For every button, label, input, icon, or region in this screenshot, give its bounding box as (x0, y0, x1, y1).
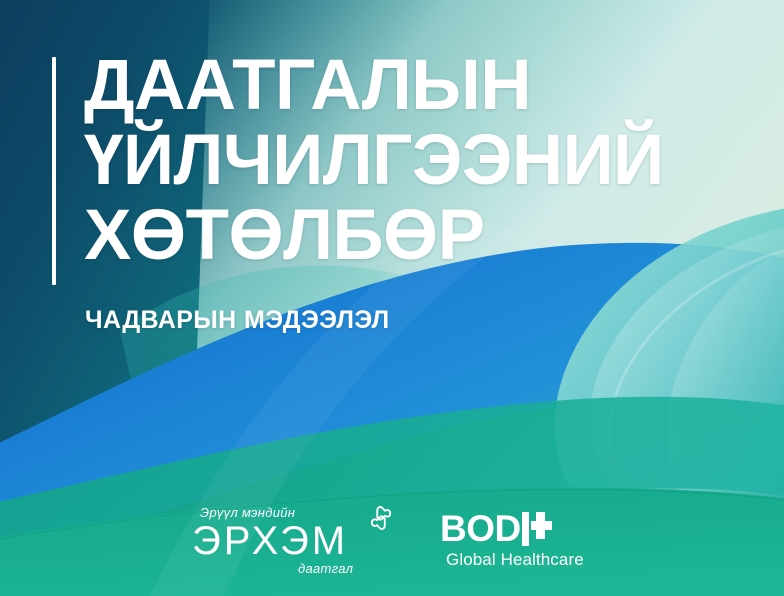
headline-line-1: ДААТГАЛЫН (84, 48, 724, 123)
erkhem-tagline-bottom: даатгал (298, 561, 353, 576)
plus-bar-icon (522, 512, 552, 546)
erkhem-wordmark: ЭРХЭМ (192, 519, 348, 563)
slide-canvas: ДААТГАЛЫН ҮЙЛЧИЛГЭЭНИЙ ХӨТӨЛБӨР ЧАДВАРЫН… (0, 0, 784, 596)
bodi-wordmark: BOD (440, 510, 521, 547)
erkhem-tagline-top: Эрүүл мэндийн (200, 505, 295, 520)
page-title: ДААТГАЛЫН ҮЙЛЧИЛГЭЭНИЙ ХӨТӨЛБӨР (84, 48, 724, 273)
bodi-logo: BOD Global Healthcare (434, 508, 594, 574)
accent-rule (52, 57, 56, 285)
bodi-subtext: Global Healthcare (446, 550, 584, 570)
logo-strip: Эрүүл мэндийн ЭРХЭМ даатгал BOD Global (0, 476, 784, 596)
headline-line-2: ҮЙЛЧИЛГЭЭНИЙ (84, 123, 724, 198)
headline-line-3: ХӨТӨЛБӨР (84, 198, 724, 273)
erkhem-logo: Эрүүл мэндийн ЭРХЭМ даатгал (190, 503, 390, 579)
page-subtitle: ЧАДВАРЫН МЭДЭЭЛЭЛ (85, 306, 390, 335)
clover-cross-icon (366, 503, 396, 533)
bodi-wordmark-row: BOD (440, 510, 552, 547)
